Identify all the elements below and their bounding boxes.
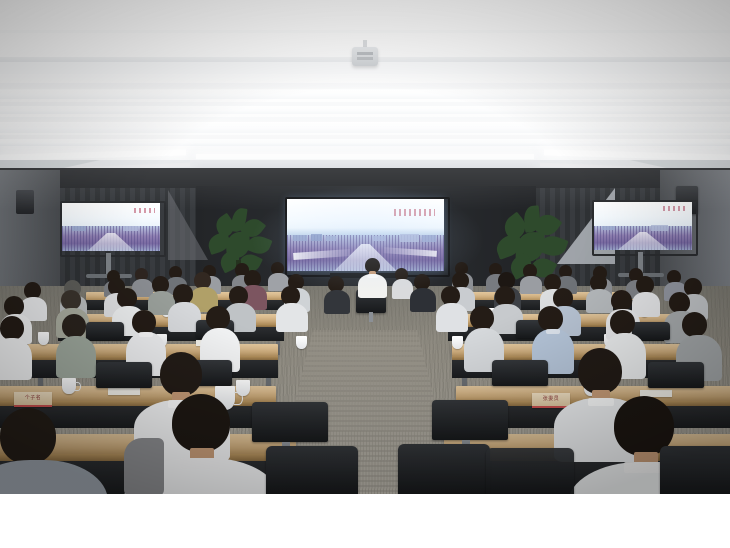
ceiling-seam [0, 83, 730, 89]
nameplate-text: 张委员 [543, 397, 560, 402]
tea-cup [296, 336, 307, 349]
ceiling-light-strip [0, 106, 730, 114]
ceiling-light-strip [0, 90, 730, 99]
side-wall-left [0, 170, 60, 290]
tea-cup [452, 336, 463, 349]
tea-cup [62, 378, 76, 394]
ceiling-light-strip [0, 122, 730, 133]
conference-chair [86, 322, 124, 340]
bottom-letterbox [0, 494, 730, 548]
right-screen-bezel [592, 200, 698, 256]
conference-chair [432, 400, 508, 440]
ceiling-projector [352, 47, 378, 66]
cup-handle [234, 392, 243, 405]
printed-handout [108, 388, 140, 395]
ceiling-light-run [196, 154, 534, 159]
tea-cup [38, 332, 49, 345]
desk-nameplate-left: 个子名 [14, 392, 52, 407]
conference-chair [96, 362, 152, 388]
ceiling-soffit [0, 160, 730, 168]
angled-wall-feature-left [168, 190, 208, 260]
left-screen-bezel [60, 201, 166, 257]
attendee-arm [124, 438, 164, 494]
ceiling-light-strip [0, 139, 730, 146]
conference-chair [492, 360, 548, 386]
desk-nameplate-right: 张委员 [532, 393, 570, 408]
conference-chair [266, 446, 358, 494]
conference-room-photograph: 个子名 张委员 [0, 0, 730, 494]
cup-handle [75, 382, 81, 391]
nameplate-text: 个子名 [25, 396, 42, 401]
conference-chair [660, 446, 730, 494]
conference-chair [648, 362, 704, 388]
wall-speaker-left [16, 190, 34, 214]
screenshot-root: 个子名 张委员 [0, 0, 730, 548]
conference-chair [398, 444, 490, 494]
chair-post [369, 312, 373, 322]
ceiling-trim [0, 30, 730, 33]
conference-chair [486, 448, 574, 494]
conference-chair [252, 402, 328, 442]
